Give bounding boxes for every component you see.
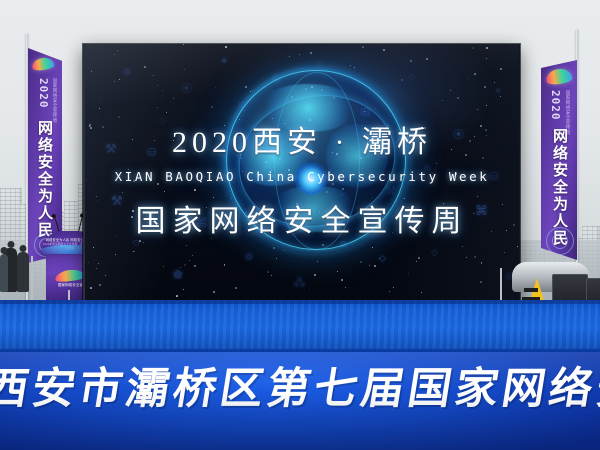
person-2 — [17, 252, 29, 292]
person-3-head — [1, 247, 8, 254]
stage-platform — [0, 300, 600, 358]
right-flag-logo-icon — [545, 67, 573, 85]
left-flag-year: 2020 — [37, 78, 50, 109]
person-3 — [0, 254, 8, 292]
right-flag: 2020 国家网络安全宣传周 网络安全为人民 — [541, 60, 577, 260]
left-flag-slogan: 网络安全为人民 — [35, 120, 56, 239]
person-2-head — [20, 245, 27, 252]
led-display-wall: □⚙⛁⚒⬡◇⦿⌘❖◎⬟⁂□⚙⛁⚒⬡◇⦿⌘❖◎⬟⁂□⚙⛁⚒⬡◇ 2020西安 · … — [83, 44, 520, 303]
screen-title-line3: 国家网络安全宣传周 — [85, 196, 519, 240]
bottom-banner: 西安市灞桥区第七届国家网络安 — [0, 352, 600, 450]
left-flag-logo-icon — [31, 57, 54, 72]
right-flag-circle-inner-icon — [552, 233, 568, 249]
right-flag-year: 2020 — [549, 90, 562, 121]
event-photo-scene: 2020 国家网络安全宣传周 网络安全为人民 网络安全为人民 网络安全靠人民 2… — [0, 0, 600, 450]
podium-logo-icon — [54, 268, 85, 283]
traffic-cone-stripe — [524, 288, 538, 292]
left-flag-subtitle: 国家网络安全宣传周 — [52, 78, 58, 123]
screen-title-line1: 2020西安 · 灞桥 — [85, 117, 519, 161]
bottom-banner-text: 西安市灞桥区第七届国家网络安 — [0, 354, 600, 416]
person-1-head — [7, 241, 14, 248]
stage-truss-left — [31, 256, 33, 302]
stage-back-edge — [0, 300, 600, 304]
screen-title-line2: XIAN BAOQIAO China Cybersecurity Week — [85, 169, 519, 184]
